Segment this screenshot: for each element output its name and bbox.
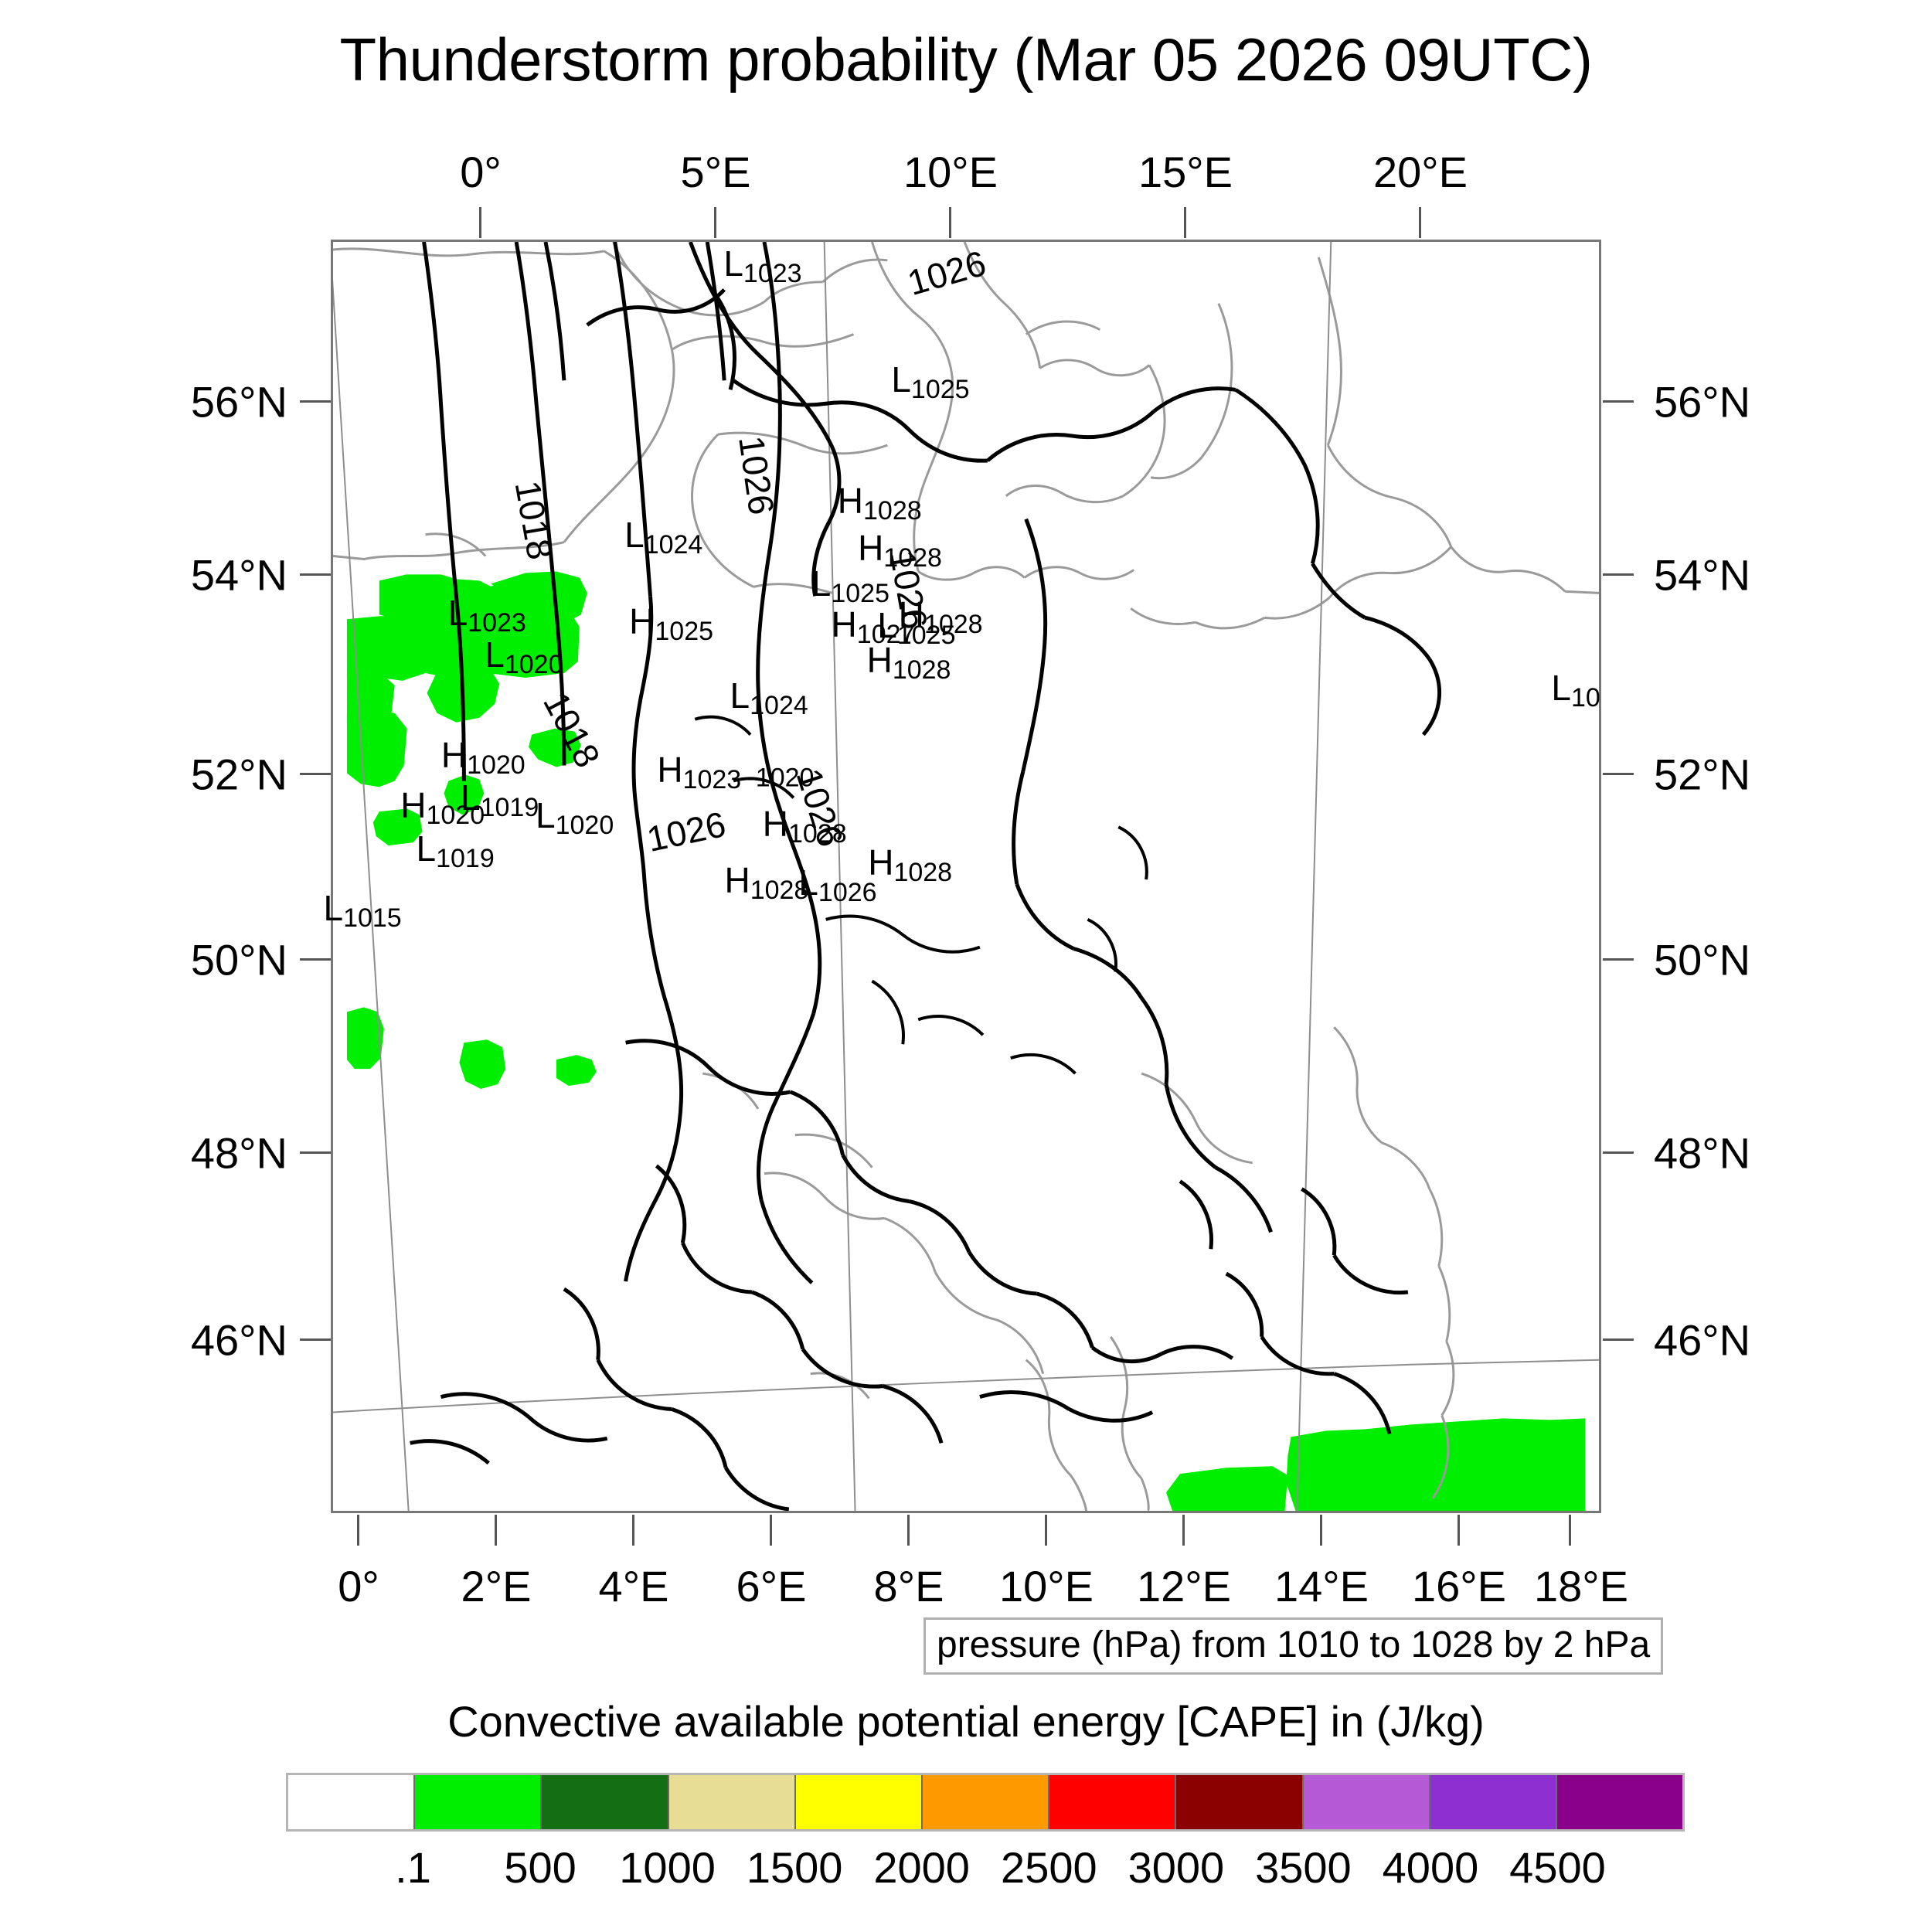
- colorbar-segment-8[interactable]: [1302, 1775, 1429, 1829]
- pressure-center-H-1028g: H1028: [868, 842, 952, 883]
- tick-right-1: [1603, 573, 1634, 576]
- tick-bot-5: [1045, 1515, 1047, 1546]
- tick-right-2: [1603, 773, 1634, 775]
- axis-label-bottom-7: 14°E: [1274, 1561, 1369, 1611]
- tick-left-2: [300, 773, 331, 775]
- axis-label-left-2: 52°N: [179, 750, 287, 800]
- axis-label-top-4: 20°E: [1373, 147, 1468, 197]
- axis-label-top-2: 10°E: [903, 147, 998, 197]
- tick-top-1: [714, 207, 716, 238]
- axis-label-bottom-9: 18°E: [1534, 1561, 1628, 1611]
- colorbar-segment-3[interactable]: [668, 1775, 794, 1829]
- colorbar-segment-2[interactable]: [540, 1775, 667, 1829]
- colorbar-tick-0: .1: [395, 1842, 431, 1893]
- pressure-center-L-1010-clipped: L10: [1551, 667, 1600, 709]
- tick-bot-4: [907, 1515, 910, 1546]
- tick-top-4: [1419, 207, 1421, 238]
- tick-bot-1: [495, 1515, 497, 1546]
- tick-bot-2: [632, 1515, 634, 1546]
- axis-label-bottom-3: 6°E: [736, 1561, 807, 1611]
- tick-top-3: [1184, 207, 1186, 238]
- pressure-center-L-1026: L1026: [798, 862, 876, 903]
- tick-bot-9: [1569, 1515, 1571, 1546]
- cape-shading: [347, 571, 1585, 1511]
- colorbar-tick-5: 2500: [1001, 1842, 1097, 1893]
- axis-label-bottom-0: 0°: [338, 1561, 379, 1611]
- tick-left-3: [300, 958, 331, 961]
- pressure-center-H-1028a: H1028: [838, 480, 922, 522]
- pressure-center-L-1025b: L1025: [811, 563, 889, 604]
- colorbar-tick-6: 3000: [1128, 1842, 1225, 1893]
- colorbar-segment-7[interactable]: [1175, 1775, 1301, 1829]
- tick-bot-8: [1458, 1515, 1460, 1546]
- tick-right-3: [1603, 958, 1634, 961]
- pressure-center-L-1015: L1015: [323, 887, 401, 929]
- axis-label-right-0: 56°N: [1654, 377, 1750, 427]
- tick-bot-0: [357, 1515, 359, 1546]
- pressure-center-H-1025: H1025: [629, 600, 713, 642]
- colorbar-segment-9[interactable]: [1429, 1775, 1556, 1829]
- pressure-center-L-1020a: L1020: [485, 634, 563, 675]
- coastlines: [333, 242, 1599, 1511]
- colorbar-segment-4[interactable]: [794, 1775, 921, 1829]
- axis-label-right-4: 48°N: [1654, 1128, 1750, 1179]
- tick-right-5: [1603, 1338, 1634, 1341]
- pressure-center-L-1025a: L1025: [891, 359, 969, 400]
- axis-label-top-1: 5°E: [681, 147, 751, 197]
- tick-left-4: [300, 1151, 331, 1154]
- pressure-center-L-1023: L1023: [723, 243, 801, 284]
- tick-left-5: [300, 1338, 331, 1341]
- graticule: [333, 242, 1599, 1511]
- map-frame: [331, 240, 1601, 1513]
- pressure-center-L-1019b: L1019: [416, 828, 494, 869]
- page-title: Thunderstorm probability (Mar 05 2026 09…: [0, 25, 1932, 95]
- pressure-center-L-1023b: L1023: [448, 592, 526, 634]
- tick-top-2: [949, 207, 951, 238]
- colorbar-title: Convective available potential energy [C…: [0, 1696, 1932, 1747]
- map-container[interactable]: L1023 L1025 H1028 H1028 L1024 L1025 H102…: [331, 240, 1601, 1513]
- axis-label-right-2: 52°N: [1654, 750, 1750, 800]
- axis-label-top-3: 15°E: [1138, 147, 1233, 197]
- colorbar-tick-3: 1500: [747, 1842, 843, 1893]
- colorbar-tick-9: 4500: [1509, 1842, 1606, 1893]
- axis-label-left-1: 54°N: [179, 550, 287, 600]
- pressure-center-L-1024a: L1024: [624, 514, 702, 556]
- tick-top-0: [479, 207, 481, 238]
- axis-label-left-3: 50°N: [179, 935, 287, 985]
- axis-label-left-5: 46°N: [179, 1315, 287, 1366]
- pressure-center-H-1020a: H1020: [441, 734, 526, 776]
- axis-label-bottom-8: 16°E: [1412, 1561, 1506, 1611]
- axis-label-right-5: 46°N: [1654, 1315, 1750, 1366]
- tick-right-4: [1603, 1151, 1634, 1154]
- colorbar-tick-2: 1000: [619, 1842, 716, 1893]
- tick-left-0: [300, 400, 331, 403]
- map-graphics: [333, 242, 1599, 1511]
- colorbar-segment-1[interactable]: [413, 1775, 540, 1829]
- axis-label-top-0: 0°: [460, 147, 502, 197]
- colorbar-tick-4: 2000: [873, 1842, 970, 1893]
- colorbar-segment-0[interactable]: [288, 1775, 413, 1829]
- tick-left-1: [300, 573, 331, 576]
- axis-label-right-1: 54°N: [1654, 550, 1750, 600]
- tick-right-0: [1603, 400, 1634, 403]
- pressure-center-L-1019a: L1019: [461, 777, 539, 818]
- pressure-center-H-1028d: H1028: [867, 639, 951, 681]
- pressure-center-H-1028f: H1028: [724, 859, 808, 901]
- axis-label-bottom-1: 2°E: [461, 1561, 532, 1611]
- axis-label-bottom-6: 12°E: [1137, 1561, 1231, 1611]
- colorbar-tick-7: 3500: [1255, 1842, 1352, 1893]
- tick-bot-7: [1320, 1515, 1322, 1546]
- pressure-center-L-1024b: L1024: [730, 675, 808, 716]
- colorbar-segment-10[interactable]: [1556, 1775, 1682, 1829]
- pressure-legend-box: pressure (hPa) from 1010 to 1028 by 2 hP…: [923, 1617, 1663, 1675]
- axis-label-left-0: 56°N: [179, 377, 287, 427]
- colorbar-tick-1: 500: [504, 1842, 576, 1893]
- pressure-center-H-1023: H1023: [657, 749, 741, 791]
- axis-label-bottom-4: 8°E: [874, 1561, 944, 1611]
- tick-bot-3: [770, 1515, 772, 1546]
- tick-bot-6: [1182, 1515, 1185, 1546]
- axis-label-bottom-5: 10°E: [999, 1561, 1094, 1611]
- axis-label-bottom-2: 4°E: [599, 1561, 669, 1611]
- colorbar-tick-8: 4000: [1383, 1842, 1479, 1893]
- colorbar-tick-labels: .1 500 1000 1500 2000 2500 3000 3500 400…: [286, 1842, 1685, 1896]
- axis-label-right-3: 50°N: [1654, 935, 1750, 985]
- colorbar-segment-6[interactable]: [1048, 1775, 1175, 1829]
- axis-label-left-4: 48°N: [179, 1128, 287, 1179]
- colorbar[interactable]: [286, 1773, 1685, 1832]
- colorbar-segment-5[interactable]: [921, 1775, 1048, 1829]
- pressure-center-L-1020b: L1020: [536, 794, 614, 836]
